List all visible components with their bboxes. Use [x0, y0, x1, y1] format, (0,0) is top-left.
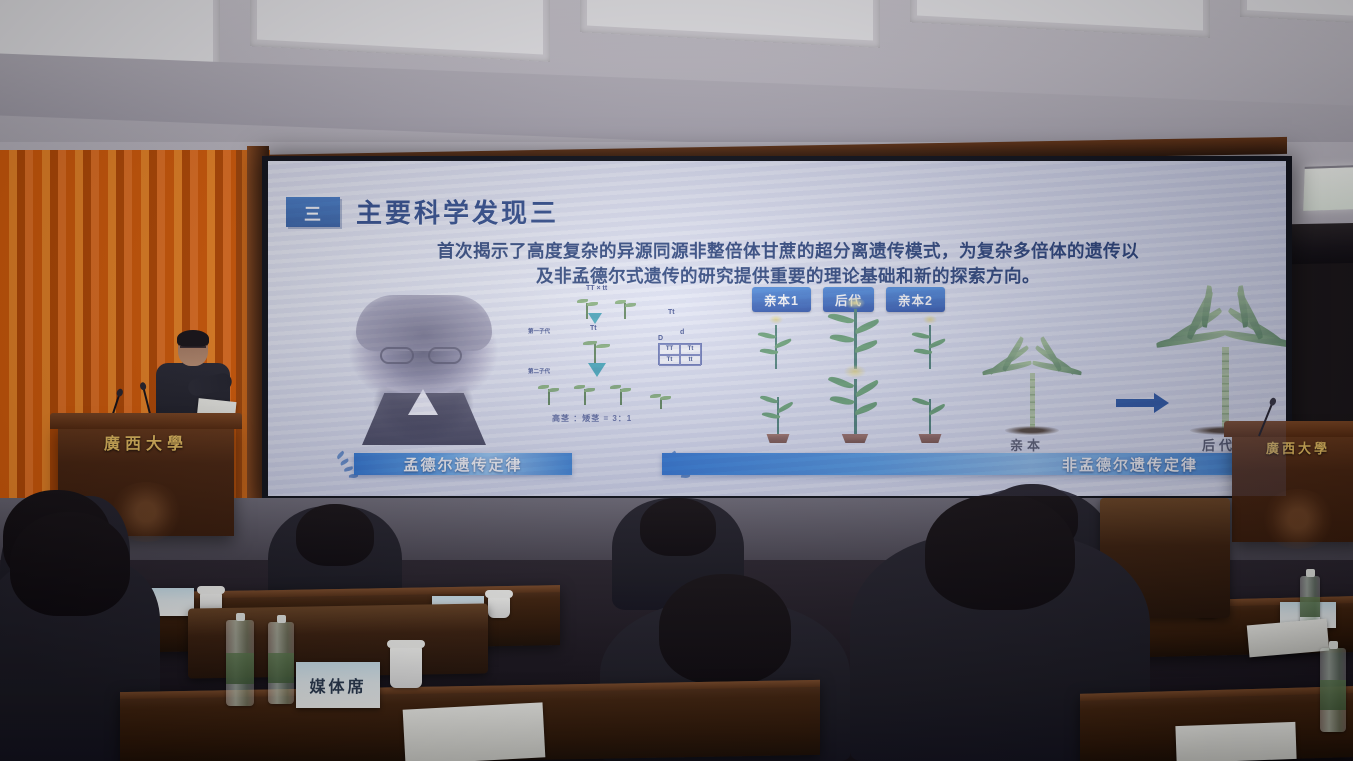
pedigree-cross-label: TT × tt [586, 285, 607, 292]
badge-parent-2: 亲本2 [886, 287, 945, 312]
podium-right: 廣西大學 [1232, 432, 1353, 542]
portrait-glasses-right [428, 347, 462, 364]
sugarcane-parent [980, 331, 1084, 431]
potted-maize-parent-2 [910, 391, 950, 435]
lidded-cup [488, 596, 510, 618]
pedigree-f2-gen-label: 第二子代 [528, 367, 550, 375]
punnett-gamete-right: d [680, 329, 684, 336]
podium-right-label: 廣西大學 [1232, 438, 1353, 457]
ceiling-coffer [1240, 0, 1353, 27]
ceiling-coffer [250, 0, 550, 62]
sugarcane-parent-label: 亲本 [1010, 435, 1044, 454]
maize-offspring [828, 303, 882, 369]
audience-head [925, 494, 1075, 610]
portrait-hair [356, 295, 492, 351]
audience-head [659, 574, 791, 684]
projection-screen: 三 主要科学发现三 首次揭示了高度复杂的异源同源非整倍体甘蔗的超分离遗传模式，为… [268, 161, 1286, 496]
maize-parent-1 [756, 319, 796, 369]
pedigree-f1-label: Tt [590, 325, 597, 332]
lecture-hall-photo: 三 主要科学发现三 首次揭示了高度复杂的异源同源非整倍体甘蔗的超分离遗传模式，为… [0, 0, 1353, 761]
ceiling-light [1303, 165, 1353, 211]
pedigree-f1-gen-label: 第一子代 [528, 327, 550, 335]
pedigree-arrow-f2 [588, 363, 606, 377]
portrait-glasses-left [380, 347, 414, 364]
badge-parent-1: 亲本1 [752, 287, 811, 312]
slide-subtitle-line2: 及非孟德尔式遗传的研究提供重要的理论基础和新的探索方向。 [348, 264, 1228, 289]
speaker-glasses [180, 346, 206, 352]
slide-title: 主要科学发现三 [356, 193, 559, 230]
audience-head [640, 498, 716, 556]
podium-top-edge [1224, 421, 1353, 437]
punnett-cell: tt [680, 355, 701, 366]
mendel-portrait [336, 289, 511, 444]
slide-section-badge: 三 [286, 197, 340, 227]
lidded-cup [390, 646, 422, 688]
water-bottle [268, 622, 294, 704]
pedigree-plant-f2 [610, 379, 632, 405]
pedigree-ratio-label: 高茎 ：矮茎 = 3：1 [552, 413, 632, 424]
pedigree-plant-f1 [584, 333, 614, 363]
maize-parent-2 [910, 319, 950, 369]
audience-head [10, 512, 130, 616]
water-bottle [1320, 648, 1346, 732]
punnett-cell: Tt [659, 355, 680, 366]
ceiling-coffer [580, 0, 880, 48]
university-emblem [1261, 489, 1335, 549]
banner-mendel-law: 孟德尔遗传定律 [354, 453, 572, 475]
slide-subtitle-line1: 首次揭示了高度复杂的异源同源非整倍体甘蔗的超分离遗传模式，为复杂多倍体的遗传以 [348, 239, 1228, 264]
punnett-square: TT Tt Tt tt [658, 343, 702, 365]
audience-head [296, 504, 374, 566]
document-paper [403, 702, 546, 761]
punnett-cell: Tt [680, 344, 701, 355]
media-seat-placard: 媒体席 [296, 662, 380, 708]
banner-non-mendel-law: 非孟德尔遗传定律 [662, 453, 1258, 475]
ceiling [0, 0, 1353, 152]
speaker-hair [177, 330, 209, 347]
sugarcane-offspring-label: 后代 [1202, 435, 1236, 454]
ceiling-coffer [910, 0, 1210, 38]
potted-maize-offspring [828, 371, 882, 435]
potted-maize-parent-1 [758, 389, 798, 435]
podium-left-label: 廣西大學 [58, 430, 234, 454]
sugarcane-offspring [1156, 293, 1286, 431]
punnett-parent-genotype: Tt [668, 309, 675, 316]
pedigree-plant-f2 [650, 383, 672, 409]
punnett-cell: TT [659, 344, 680, 355]
pedigree-plant [614, 293, 636, 319]
punnett-gamete-left: D [658, 335, 663, 342]
pedigree-arrow [588, 313, 602, 324]
pedigree-plant-f2 [538, 379, 560, 405]
slide-subtitle: 首次揭示了高度复杂的异源同源非整倍体甘蔗的超分离遗传模式，为复杂多倍体的遗传以 … [348, 239, 1228, 290]
document-paper [1175, 722, 1296, 761]
water-bottle [226, 620, 254, 706]
podium-top-edge [50, 413, 242, 429]
pedigree-plant-f2 [574, 379, 596, 405]
mendel-pedigree-diagram: TT × tt Tt 第一子代 第二子代 高茎 ：矮茎 = 3：1 Tt D d… [530, 283, 710, 423]
